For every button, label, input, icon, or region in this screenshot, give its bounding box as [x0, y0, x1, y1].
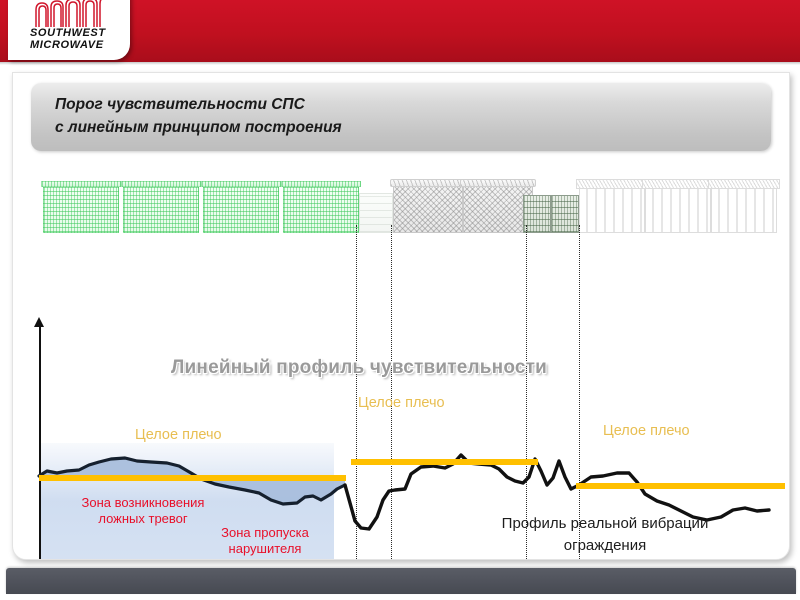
fence-segment-dark-grid	[523, 195, 551, 233]
missed-intruder-zone-label: Зона пропуска нарушителя	[195, 525, 335, 557]
slide-root: SOUTHWEST MICROWAVE Порог чувствительнос…	[0, 0, 800, 600]
fence-segment-picket	[645, 187, 711, 233]
false-alarm-zone-label-text: Зона возникновения ложных тревог	[82, 495, 205, 526]
arm-label-2: Целое плечо	[358, 395, 445, 411]
threshold-line-segment-3	[576, 483, 785, 489]
red-band-shadow	[0, 62, 800, 65]
page-title: Порог чувствительности СПС с линейным пр…	[55, 93, 745, 139]
real-vibration-profile-label-text: Профиль реальной вибрации ограждения	[502, 515, 709, 554]
fence-segment-green-mesh	[283, 185, 359, 233]
sensitivity-profile-figure: Линейный профиль чувствительности Целое …	[13, 165, 789, 559]
fence-illustration-strip	[13, 165, 789, 237]
arm-label-3: Целое плечо	[603, 423, 690, 439]
page-title-line1: Порог чувствительности СПС	[55, 93, 745, 116]
real-vibration-profile-label: Профиль реальной вибрации ограждения	[473, 513, 737, 557]
segment-boundary-line	[391, 225, 392, 560]
false-alarm-zone-label: Зона возникновения ложных тревог	[73, 495, 213, 527]
segment-boundary-line	[526, 225, 527, 560]
brand-name-line2: MICROWAVE	[30, 40, 126, 52]
threshold-line-segment-2	[351, 459, 538, 465]
content-card: Порог чувствительности СПС с линейным пр…	[12, 72, 790, 560]
fence-segment-green-mesh	[203, 185, 279, 233]
fence-segment-picket	[711, 187, 777, 233]
footer-bar	[6, 568, 796, 594]
missed-intruder-zone-label-text: Зона пропуска нарушителя	[221, 525, 309, 556]
brand-wordmark: SOUTHWEST MICROWAVE	[30, 28, 126, 51]
page-title-line2: с линейным принципом построения	[55, 116, 745, 139]
arm-label-1: Целое плечо	[135, 427, 222, 443]
threshold-line-segment-1	[39, 475, 346, 481]
fence-segment-pale-panel	[359, 193, 393, 233]
southwest-microwave-m-logo-icon	[34, 0, 106, 28]
brand-name-line1: SOUTHWEST	[30, 28, 126, 40]
brand-logo-plate[interactable]: SOUTHWEST MICROWAVE	[8, 0, 130, 60]
chart-watermark-title: Линейный профиль чувствительности	[171, 357, 547, 379]
segment-boundary-line	[356, 225, 357, 560]
fence-segment-chain-link	[393, 185, 463, 233]
fence-segment-green-mesh	[43, 185, 119, 233]
y-axis-line	[39, 325, 41, 560]
slide-title-bar: Порог чувствительности СПС с линейным пр…	[31, 83, 771, 151]
fence-segment-green-mesh	[123, 185, 199, 233]
segment-boundary-line	[579, 225, 580, 560]
fence-segment-dark-grid	[551, 195, 579, 233]
y-axis-arrow-icon	[34, 317, 44, 327]
fence-segment-picket	[579, 187, 645, 233]
